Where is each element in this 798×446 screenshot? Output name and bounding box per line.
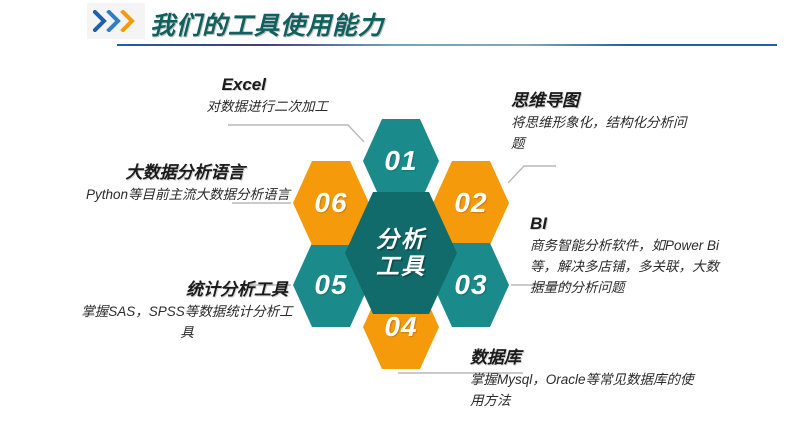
node-desc-statistics: 掌握SAS，SPSS等数据统计分析工具 [78,302,296,344]
page-header: 我们的工具使用能力 [0,0,798,52]
hex-number-06: 06 [314,187,347,219]
node-text-bi: BI 商务智能分析软件，如Power Bi等，解决多店铺，多关联，大数据量的分析… [530,213,730,299]
node-desc-excel: 对数据进行二次加工 [118,97,328,118]
hexagon-diagram: 01 02 03 04 05 06 分析 工具 Excel 对数据进行二次加工 … [0,52,798,446]
hex-number-05: 05 [314,269,347,301]
node-title-database: 数据库 [470,347,700,368]
node-text-bigdata: 大数据分析语言 Python等目前主流大数据分析语言 [78,162,298,206]
hex-number-01: 01 [384,145,417,177]
header-divider [117,44,777,46]
node-desc-mindmap: 将思维形象化，结构化分析问题 [511,113,691,155]
page-title: 我们的工具使用能力 [150,6,384,42]
node-title-mindmap: 思维导图 [511,90,691,111]
node-desc-bigdata: Python等目前主流大数据分析语言 [78,185,298,206]
hex-number-03: 03 [454,269,487,301]
triple-chevron-right-icon [87,3,145,39]
hex-number-04: 04 [384,311,417,343]
node-desc-bi: 商务智能分析软件，如Power Bi等，解决多店铺，多关联，大数据量的分析问题 [530,236,730,299]
node-title-statistics: 统计分析工具 [78,279,296,300]
node-title-bigdata: 大数据分析语言 [78,162,298,183]
node-text-statistics: 统计分析工具 掌握SAS，SPSS等数据统计分析工具 [78,279,296,344]
node-text-mindmap: 思维导图 将思维形象化，结构化分析问题 [511,90,691,155]
node-title-bi: BI [530,213,730,234]
hex-number-02: 02 [454,187,487,219]
hex-center-line2: 工具 [376,253,426,280]
node-text-database: 数据库 掌握Mysql，Oracle等常见数据库的使用方法 [470,347,700,412]
node-text-excel: Excel 对数据进行二次加工 [118,74,328,118]
hex-center-line1: 分析 [376,226,426,253]
node-title-excel: Excel [118,74,328,95]
node-desc-database: 掌握Mysql，Oracle等常见数据库的使用方法 [470,370,700,412]
